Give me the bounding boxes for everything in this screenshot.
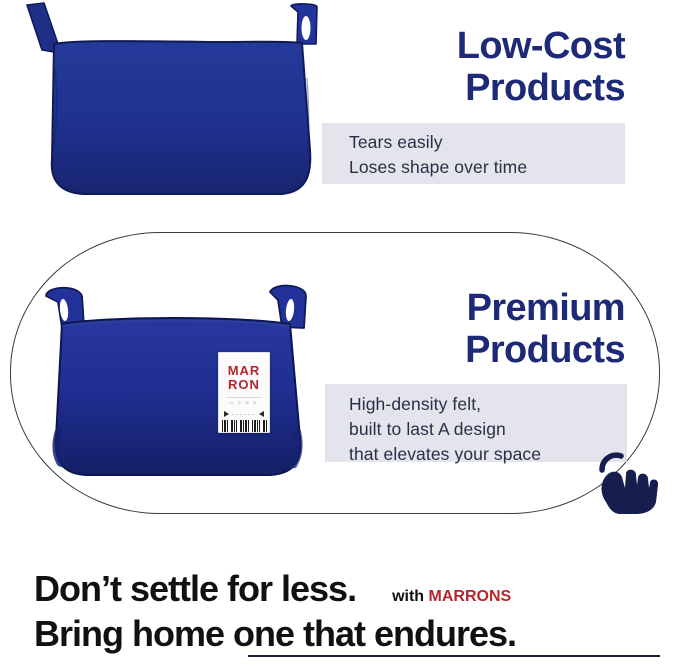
premium-basket-svg xyxy=(38,278,338,493)
hangtag-brand-line1: MAR xyxy=(219,364,269,378)
premium-heading: Premium Products xyxy=(300,287,625,371)
hangtag-subtitle: H O M E xyxy=(219,400,269,407)
brand-word: MARRONS xyxy=(429,588,512,605)
hangtag-brand-line2: RON xyxy=(219,378,269,392)
footer-underline xyxy=(248,655,660,657)
footer-tagline: Don’t settle for less. with MARRONS Brin… xyxy=(34,566,674,656)
hangtag-divider xyxy=(226,397,262,398)
hangtag-dotted-rule xyxy=(232,414,256,415)
infographic-canvas: Low-Cost Products Tears easily Loses sha… xyxy=(0,0,679,666)
footer-line1: Don’t settle for less. xyxy=(34,566,356,611)
premium-product-image xyxy=(38,278,338,493)
low-cost-product-image xyxy=(14,0,344,210)
hangtag-barcode-icon xyxy=(219,420,269,433)
with-marrons-label: with MARRONS xyxy=(392,588,511,606)
hangtag-arrow-row xyxy=(219,411,269,417)
hangtag-left-arrow-icon xyxy=(224,411,229,417)
with-word: with xyxy=(392,588,424,605)
hangtag-right-arrow-icon xyxy=(259,411,264,417)
low-cost-heading: Low-Cost Products xyxy=(300,25,625,109)
hand-pointer-svg xyxy=(592,450,664,516)
tap-cursor-icon xyxy=(592,450,664,516)
low-cost-bullets: Tears easily Loses shape over time xyxy=(349,130,629,180)
footer-line1-row: Don’t settle for less. with MARRONS xyxy=(34,566,674,611)
flimsy-basket-svg xyxy=(14,0,344,210)
brand-hangtag: MAR RON H O M E MARRONS xyxy=(218,352,270,433)
footer-line2: Bring home one that endures. xyxy=(34,611,674,656)
